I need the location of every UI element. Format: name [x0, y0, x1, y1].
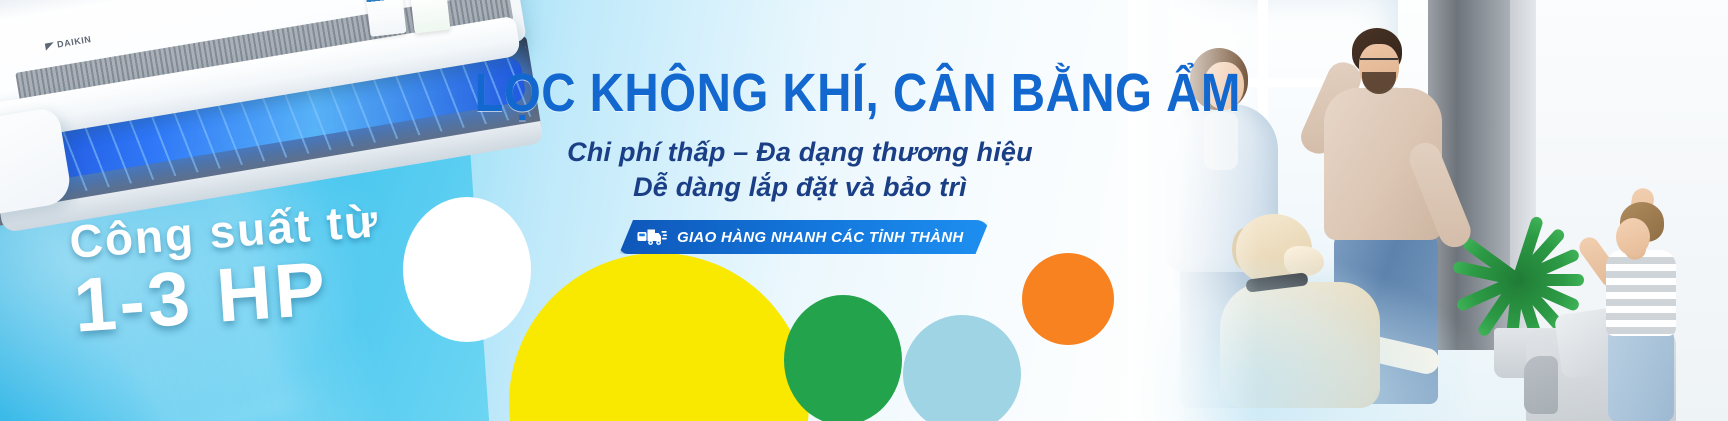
- subtitle-line-1: Chi phí thấp – Đa dạng thương hiệu: [430, 135, 1170, 170]
- decorative-circle-yellow: [509, 253, 809, 421]
- subtitle-line-2: Dễ dàng lắp đặt và bảo trì: [430, 170, 1170, 205]
- promo-banner[interactable]: DAIKIN Công suất từ 1-3 HP LỌC KHÔNG KHÍ…: [0, 0, 1728, 421]
- delivery-badge[interactable]: GIAO HÀNG NHANH CÁC TỈNH THÀNH: [619, 220, 990, 254]
- man-glasses: [1360, 58, 1398, 69]
- decorative-circle-light-blue: [903, 315, 1021, 421]
- decorative-circle-orange: [1022, 253, 1114, 345]
- decorative-circle-green: [784, 295, 902, 421]
- capacity-promo-text: Công suất từ 1-3 HP: [68, 197, 386, 344]
- child-striped-shirt: [1606, 250, 1676, 336]
- sofa-armrest: [1524, 356, 1558, 414]
- daikin-mark-icon: [45, 42, 55, 50]
- child-face: [1616, 218, 1650, 256]
- headline-block: LỌC KHÔNG KHÍ, CÂN BẰNG ẨM Chi phí thấp …: [430, 66, 1170, 204]
- delivery-badge-label: GIAO HÀNG NHANH CÁC TỈNH THÀNH: [677, 229, 964, 246]
- energy-label-blue: [364, 0, 406, 37]
- page-title: LỌC KHÔNG KHÍ, CÂN BẰNG ẨM: [474, 66, 1125, 121]
- decorative-circle-white: [403, 197, 531, 342]
- energy-label-green: [408, 0, 450, 34]
- child-pants: [1608, 328, 1674, 421]
- delivery-truck-icon: [637, 227, 667, 247]
